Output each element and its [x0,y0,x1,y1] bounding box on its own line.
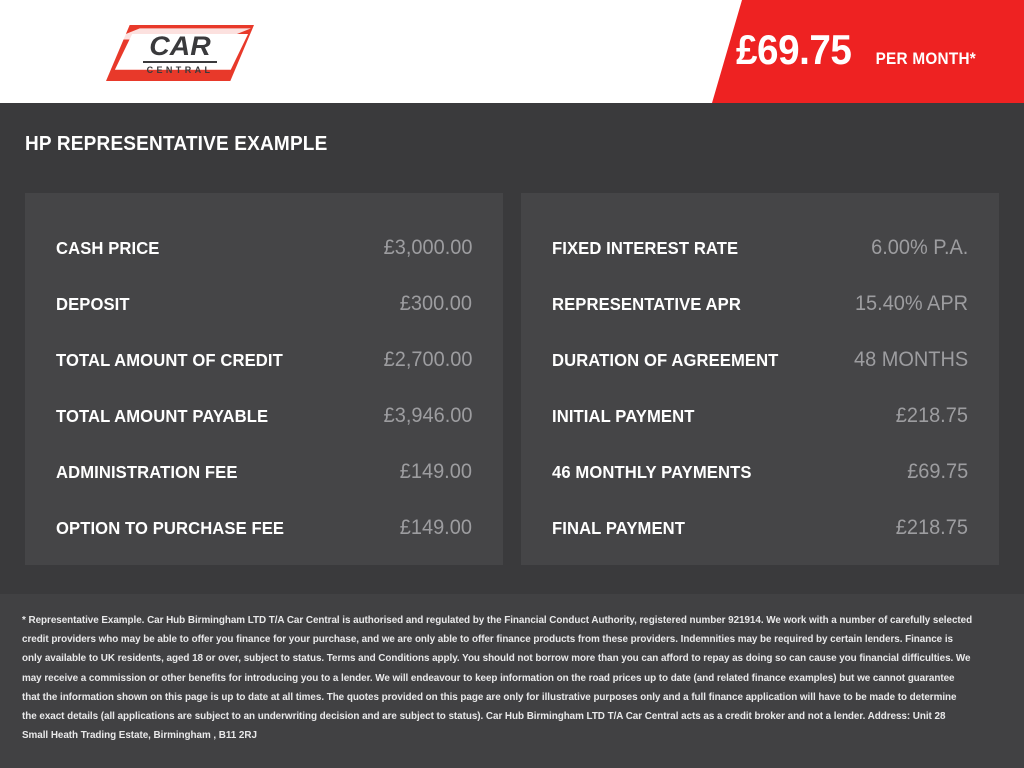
row-value: £218.75 [896,404,968,428]
row-value: £149.00 [400,460,472,484]
disclaimer-text: * Representative Example. Car Hub Birmin… [22,611,973,745]
table-row: FINAL PAYMENT £218.75 [552,500,968,556]
left-finance-panel: CASH PRICE £3,000.00 DEPOSIT £300.00 TOT… [25,193,503,565]
row-value: 6.00% P.A. [871,236,968,260]
monthly-price-period: PER MONTH* [876,49,976,69]
row-label: REPRESENTATIVE APR [552,294,741,315]
logo-secondary-text: CENTRAL [106,65,254,75]
row-value: £3,000.00 [383,236,472,260]
right-finance-panel: FIXED INTEREST RATE 6.00% P.A. REPRESENT… [521,193,999,565]
row-value: 15.40% APR [855,292,968,316]
table-row: INITIAL PAYMENT £218.75 [552,388,968,444]
table-row: ADMINISTRATION FEE £149.00 [56,444,472,500]
row-label: CASH PRICE [56,238,159,259]
disclaimer-footer: * Representative Example. Car Hub Birmin… [0,594,1024,768]
table-row: DURATION OF AGREEMENT 48 MONTHS [552,332,968,388]
row-label: 46 MONTHLY PAYMENTS [552,462,752,483]
logo-text-group: CAR CENTRAL [106,33,254,75]
car-central-logo[interactable]: CAR CENTRAL [106,25,254,81]
row-label: FIXED INTEREST RATE [552,238,738,259]
row-value: £300.00 [400,292,472,316]
row-value: £149.00 [400,516,472,540]
row-label: DEPOSIT [56,294,130,315]
table-row: TOTAL AMOUNT OF CREDIT £2,700.00 [56,332,472,388]
row-label: FINAL PAYMENT [552,518,685,539]
table-row: TOTAL AMOUNT PAYABLE £3,946.00 [56,388,472,444]
row-label: DURATION OF AGREEMENT [552,350,778,371]
table-row: OPTION TO PURCHASE FEE £149.00 [56,500,472,556]
row-value: £218.75 [896,516,968,540]
row-label: ADMINISTRATION FEE [56,462,238,483]
logo-primary-text: CAR [102,33,257,60]
table-row: CASH PRICE £3,000.00 [56,220,472,276]
monthly-price-amount: £69.75 [736,28,851,72]
row-value: 48 MONTHS [854,348,968,372]
row-label: TOTAL AMOUNT PAYABLE [56,406,268,427]
row-label: OPTION TO PURCHASE FEE [56,518,284,539]
table-row: FIXED INTEREST RATE 6.00% P.A. [552,220,968,276]
row-value: £2,700.00 [383,348,472,372]
row-value: £3,946.00 [383,404,472,428]
monthly-price-block: £69.75 PER MONTH* [731,28,982,72]
page-header: CAR CENTRAL £69.75 PER MONTH* [0,0,1024,103]
table-row: DEPOSIT £300.00 [56,276,472,332]
row-label: INITIAL PAYMENT [552,406,694,427]
row-value: £69.75 [907,460,968,484]
table-row: 46 MONTHLY PAYMENTS £69.75 [552,444,968,500]
page-title: HP REPRESENTATIVE EXAMPLE [25,133,327,156]
row-label: TOTAL AMOUNT OF CREDIT [56,350,283,371]
table-row: REPRESENTATIVE APR 15.40% APR [552,276,968,332]
logo-divider [143,61,217,63]
finance-panels: CASH PRICE £3,000.00 DEPOSIT £300.00 TOT… [25,193,999,565]
